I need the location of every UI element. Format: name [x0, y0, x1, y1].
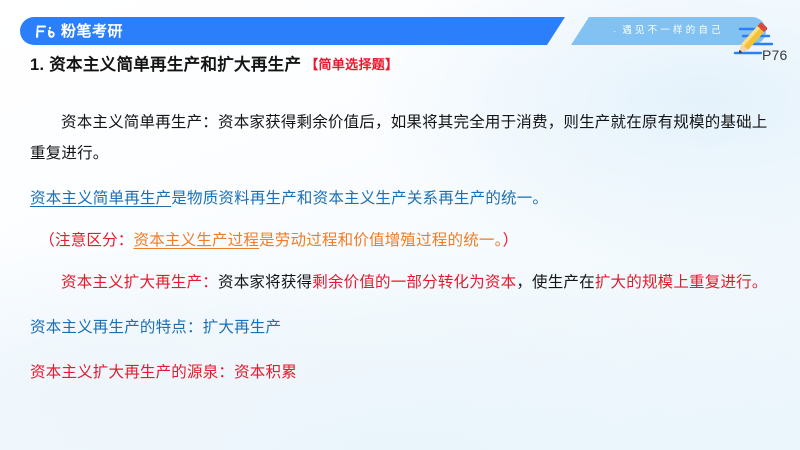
brand-name: 粉笔考研 — [61, 24, 123, 39]
blue-definition-underlined-term: 资本主义简单再生产 — [30, 190, 171, 207]
tagline-text: 遇见不一样的自己 — [622, 26, 724, 36]
page-title: 1. 资本主义简单再生产和扩大再生产【简单选择题】 — [30, 52, 800, 78]
brand-inner: 粉笔考研 — [35, 24, 123, 39]
brand-banner: 粉笔考研 — [20, 17, 565, 45]
slide-content: 1. 资本主义简单再生产和扩大再生产【简单选择题】 资本主义简单再生产：资本家获… — [0, 52, 800, 388]
page-title-text: 1. 资本主义简单再生产和扩大再生产 — [30, 56, 301, 74]
expanded-black-2: ，使 — [516, 274, 547, 291]
expanded-red-lead: 资本主义扩大再生产： — [61, 274, 218, 291]
paragraph-simple-reproduction: 资本主义简单再生产：资本家获得剩余价值后，如果将其完全用于消费，则生产就在原有规… — [30, 107, 770, 169]
paragraph-blue-definition: 资本主义简单再生产是物质资料再生产和资本主义生产关系再生产的统一。 — [30, 183, 770, 214]
paragraph-expanded-reproduction: 资本主义扩大再生产：资本家将获得剩余价值的一部分转化为资本，使生产在扩大的规模上… — [30, 267, 770, 298]
paragraph-distinction-note: （注意区分：资本主义生产过程是劳动过程和价值增殖过程的统一。） — [30, 225, 770, 256]
expanded-red-1: 剩余价值的一部分转化为资本 — [312, 274, 516, 291]
fenbi-logo-icon — [35, 24, 56, 39]
note-open-paren: （注意区分： — [39, 232, 133, 249]
expanded-black-1: 资本家将获得 — [218, 274, 312, 291]
paragraph-reproduction-source: 资本主义扩大再生产的源泉：资本积累 — [30, 357, 770, 388]
slide-canvas: 粉笔考研 · 遇见不一样的自己 P76 1. 资本主义简单再生产和扩大再生产【简 — [0, 0, 800, 450]
note-orange-rest: 是劳动过程和价值增殖过程的统一。 — [259, 232, 502, 249]
blue-definition-rest: 是物质资料再生产和资本主义生产关系再生产的统一。 — [171, 190, 548, 207]
note-close-paren: ） — [503, 232, 519, 249]
note-underlined-term: 资本主义生产过程 — [134, 232, 260, 249]
tagline-bullet-icon: · — [613, 27, 616, 36]
question-type-tag: 【简单选择题】 — [305, 57, 398, 72]
paragraph-reproduction-feature: 资本主义再生产的特点：扩大再生产 — [30, 312, 770, 343]
expanded-black-3: 生产在 — [548, 274, 595, 291]
expanded-red-2: 扩大的规模上重复进行。 — [595, 274, 768, 291]
